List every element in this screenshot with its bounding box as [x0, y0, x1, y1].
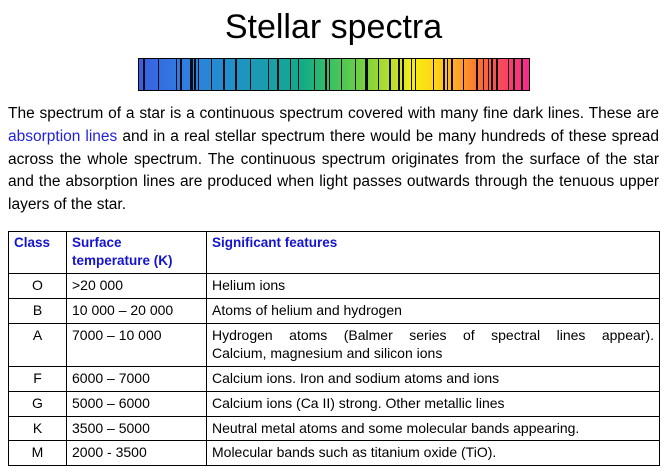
absorption-line	[521, 59, 522, 90]
absorption-line	[402, 59, 404, 90]
absorption-line	[443, 59, 445, 90]
cell-temperature: 6000 – 7000	[67, 367, 207, 392]
table-header: Class Surface temperature (K) Significan…	[9, 231, 660, 273]
absorption-line	[314, 59, 315, 90]
absorption-line	[476, 59, 478, 90]
column-header-temperature: Surface temperature (K)	[67, 231, 207, 273]
absorption-line	[433, 59, 434, 90]
absorption-line	[365, 59, 367, 90]
cell-features-line-1: Hydrogen atoms (Balmer series of spectra…	[212, 326, 654, 345]
absorption-line	[190, 59, 192, 90]
cell-temperature: 7000 – 10 000	[67, 323, 207, 367]
absorption-line	[325, 59, 327, 90]
table-row: B10 000 – 20 000Atoms of helium and hydr…	[9, 298, 660, 323]
stellar-spectrum-strip	[138, 58, 530, 91]
absorption-line	[398, 59, 399, 90]
table-row: O>20 000Helium ions	[9, 274, 660, 299]
absorption-line	[250, 59, 251, 90]
absorption-line	[483, 59, 484, 90]
absorption-line	[211, 59, 212, 90]
cell-class: O	[9, 274, 67, 299]
cell-class: F	[9, 367, 67, 392]
absorption-line	[198, 59, 199, 90]
absorption-line	[290, 59, 291, 90]
page-title: Stellar spectra	[0, 0, 667, 44]
absorption-line	[341, 59, 342, 90]
absorption-line	[447, 59, 448, 90]
absorption-line	[415, 59, 416, 90]
cell-temperature: 2000 - 3500	[67, 441, 207, 466]
absorption-line	[223, 59, 225, 90]
cell-class: G	[9, 391, 67, 416]
cell-features: Molecular bands such as titanium oxide (…	[207, 441, 660, 466]
cell-features-line-2: Calcium, magnesium and silicon ions	[212, 344, 654, 363]
absorption-line	[488, 59, 489, 90]
absorption-line	[355, 59, 356, 90]
absorption-line	[389, 59, 390, 90]
absorption-line	[180, 59, 181, 90]
absorption-line	[158, 59, 159, 90]
absorption-line	[235, 59, 236, 90]
absorption-line	[411, 59, 412, 90]
cell-class: K	[9, 416, 67, 441]
cell-features: Neutral metal atoms and some molecular b…	[207, 416, 660, 441]
table-row: F6000 – 7000Calcium ions. Iron and sodiu…	[9, 367, 660, 392]
absorption-line	[298, 59, 299, 90]
intro-text-part1: The spectrum of a star is a continuous s…	[8, 105, 659, 122]
cell-class: A	[9, 323, 67, 367]
absorption-line	[277, 59, 279, 90]
absorption-line	[491, 59, 492, 90]
table-header-row: Class Surface temperature (K) Significan…	[9, 231, 660, 273]
absorption-line	[194, 59, 195, 90]
cell-temperature: >20 000	[67, 274, 207, 299]
table-body: O>20 000Helium ionsB10 000 – 20 000Atoms…	[9, 274, 660, 466]
absorption-line	[378, 59, 379, 90]
absorption-line	[513, 59, 514, 90]
table-row: G5000 – 6000Calcium ions (Ca II) strong.…	[9, 391, 660, 416]
table-row: M2000 - 3500Molecular bands such as tita…	[9, 441, 660, 466]
absorption-line	[143, 59, 145, 90]
absorption-line	[463, 59, 464, 90]
cell-features: Atoms of helium and hydrogen	[207, 298, 660, 323]
cell-features: Calcium ions (Ca II) strong. Other metal…	[207, 391, 660, 416]
spectral-classes-table-wrap: Class Surface temperature (K) Significan…	[8, 231, 659, 466]
absorption-line	[508, 59, 509, 90]
table-row: K3500 – 5000Neutral metal atoms and some…	[9, 416, 660, 441]
cell-temperature: 5000 – 6000	[67, 391, 207, 416]
cell-features: Calcium ions. Iron and sodium atoms and …	[207, 367, 660, 392]
spectral-classes-table: Class Surface temperature (K) Significan…	[8, 231, 660, 466]
table-row: A7000 – 10 000Hydrogen atoms (Balmer ser…	[9, 323, 660, 367]
absorption-line	[496, 59, 498, 90]
cell-class: B	[9, 298, 67, 323]
absorption-line	[329, 59, 330, 90]
intro-paragraph: The spectrum of a star is a continuous s…	[8, 103, 659, 217]
column-header-class: Class	[9, 231, 67, 273]
cell-features: Helium ions	[207, 274, 660, 299]
cell-class: M	[9, 441, 67, 466]
spectrum-container	[0, 58, 667, 91]
cell-temperature: 3500 – 5000	[67, 416, 207, 441]
absorption-line	[176, 59, 177, 90]
absorption-line	[451, 59, 452, 90]
cell-features: Hydrogen atoms (Balmer series of spectra…	[207, 323, 660, 367]
absorption-line	[268, 59, 269, 90]
cell-temperature: 10 000 – 20 000	[67, 298, 207, 323]
column-header-features: Significant features	[207, 231, 660, 273]
absorption-lines-highlight: absorption lines	[8, 128, 117, 145]
